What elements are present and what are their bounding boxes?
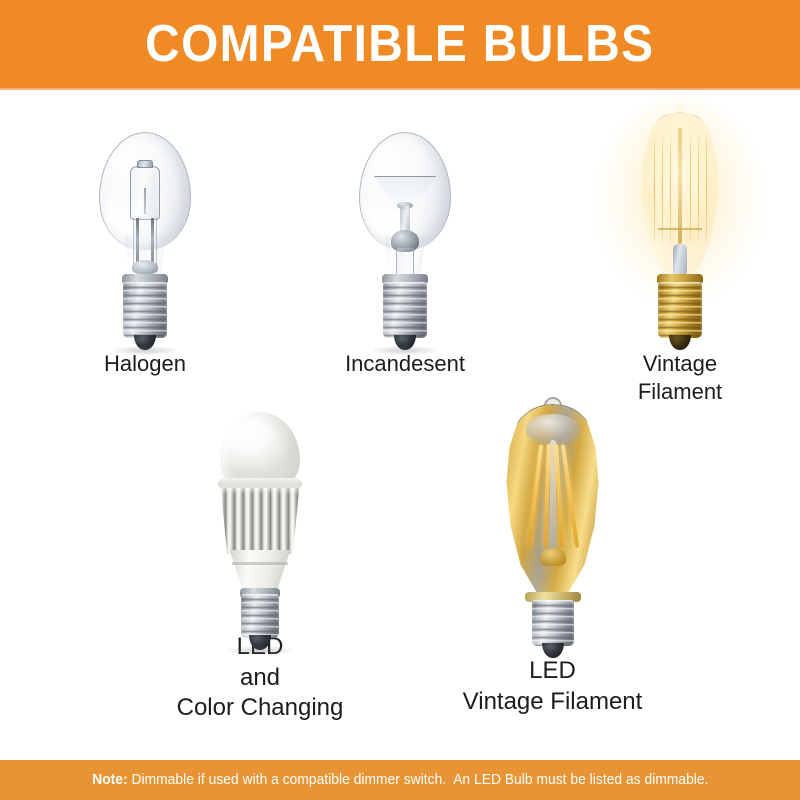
stem-press <box>673 244 687 274</box>
drop-shadow <box>373 346 437 355</box>
compatible-bulbs-infographic: COMPATIBLE BULBS Halogen <box>0 0 800 800</box>
edison-screw-base <box>241 594 279 638</box>
footer-note: Note: Dimmable if used with a compatible… <box>92 772 708 788</box>
edison-screw-base <box>658 282 702 338</box>
bulb-card-halogen[interactable]: Halogen <box>60 132 230 378</box>
led-vintage-filament-bulb-image <box>460 400 645 650</box>
capsule-cap <box>137 160 153 168</box>
incandescent-bulb-image <box>320 132 490 344</box>
bulb-card-led-vintage-filament[interactable]: LED Vintage Filament <box>460 400 645 717</box>
footer-note-body: Dimmable if used with a compatible dimme… <box>127 772 708 788</box>
footer-note-banner: Note: Dimmable if used with a compatible… <box>0 760 800 800</box>
edison-screw-base <box>123 282 167 338</box>
edison-screw-base <box>532 600 574 646</box>
stem-press <box>540 548 566 566</box>
bulb-card-led-color-changing[interactable]: LED and Color Changing <box>175 412 345 724</box>
bulb-card-vintage-filament[interactable]: Vintage Filament <box>595 104 765 406</box>
stem-press <box>132 260 158 274</box>
vintage-filament-bulb-image <box>595 104 765 344</box>
filament-wire <box>144 188 146 214</box>
edison-screw-base <box>383 282 427 338</box>
frosted-diffuser-dome <box>220 412 300 488</box>
bulb-gallery: Halogen Incandesent <box>0 90 800 758</box>
housing-groove <box>232 562 288 565</box>
center-stem <box>678 128 682 244</box>
footer-note-label: Note: <box>92 772 127 788</box>
aluminum-heat-sink <box>219 488 301 554</box>
led-bulb-image <box>175 412 345 626</box>
drop-shadow <box>113 346 177 355</box>
header-banner: COMPATIBLE BULBS <box>0 0 800 88</box>
bulb-caption: Vintage Filament <box>595 350 765 406</box>
page-title: COMPATIBLE BULBS <box>145 18 654 70</box>
halogen-bulb-image <box>60 132 230 344</box>
stem-crossbar <box>658 228 702 230</box>
drop-shadow <box>228 646 292 655</box>
filament-strand <box>654 134 655 246</box>
filament-strand <box>706 134 707 246</box>
base-contact-tip <box>669 335 691 350</box>
bulb-caption: LED Vintage Filament <box>460 656 645 717</box>
bulb-card-incandescent[interactable]: Incandesent <box>320 132 490 378</box>
